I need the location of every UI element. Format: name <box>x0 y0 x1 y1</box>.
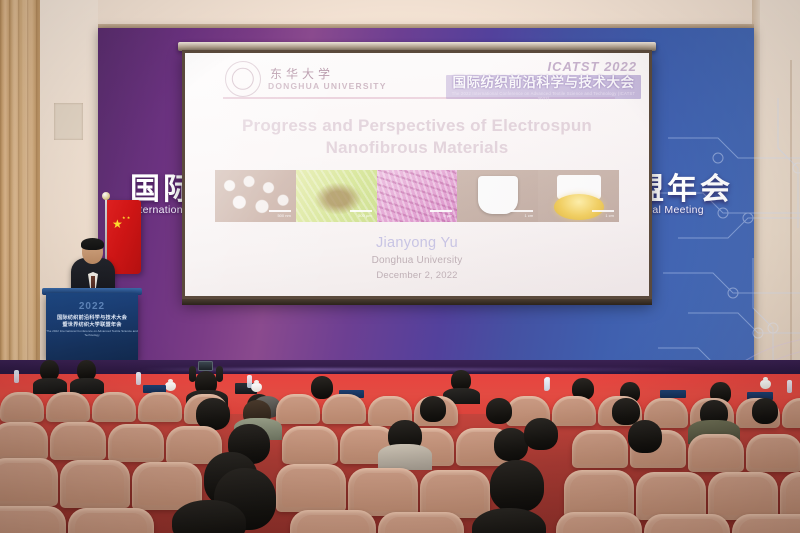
auditorium-seat <box>552 396 596 426</box>
scalebar-4: 1 cm <box>511 210 533 218</box>
teapot <box>760 380 771 389</box>
scalebar-2-label: 500 µm <box>358 213 371 218</box>
projection-screen: 东华大学 DONGHUA UNIVERSITY ICATST 2022 国际纺织… <box>185 53 649 296</box>
audience-head <box>490 460 544 512</box>
audience-head <box>420 396 446 422</box>
speaker-glasses-icon <box>84 248 101 253</box>
water-bottle <box>14 370 19 383</box>
slide-figure-row: 500 nm 500 µm 5 µm 1 cm 1 cm <box>215 170 619 222</box>
audience-head <box>311 376 333 399</box>
water-bottle <box>136 372 141 385</box>
podium-english-line: The 2022 International Conference on Adv… <box>46 329 138 337</box>
scalebar-1: 500 nm <box>269 210 291 218</box>
scalebar-3-label: 5 µm <box>443 213 452 218</box>
audience-head <box>752 398 778 424</box>
auditorium-seat <box>420 470 490 518</box>
auditorium-seat <box>0 506 66 533</box>
auditorium-seat <box>0 458 58 506</box>
slide-title: Progress and Perspectives of Electrospun… <box>185 115 649 159</box>
audience-head <box>524 418 558 450</box>
delegate-nameplate <box>660 390 686 398</box>
water-bottle <box>787 380 792 393</box>
donghua-university-logo-icon <box>225 61 261 97</box>
auditorium-seat <box>138 392 182 422</box>
auditorium-seat <box>746 434 800 472</box>
auditorium-seat <box>46 392 90 422</box>
audience-head <box>486 398 512 424</box>
raised-arm <box>216 366 223 382</box>
aerogel-cylinder-shape <box>478 176 518 214</box>
auditorium-seat <box>348 468 418 516</box>
auditorium-seat <box>556 512 642 533</box>
audience-shoulders <box>378 444 432 470</box>
slide-speaker-affiliation: Donghua University <box>185 255 649 266</box>
auditorium-seat <box>732 514 800 533</box>
auditorium-seat <box>780 472 800 520</box>
auditorium-seat <box>644 514 730 533</box>
audience-head <box>628 420 662 453</box>
auditorium-seat <box>322 394 366 424</box>
auditorium-seat <box>282 426 338 464</box>
auditorium-seat <box>68 508 154 533</box>
figure-histology-stained-section: 5 µm <box>377 170 458 222</box>
podium-sponsor-block <box>70 339 116 355</box>
auditorium-seat <box>50 422 106 460</box>
figure-sem-nanofiber-network: 500 nm <box>215 170 296 222</box>
raised-arm <box>189 366 196 382</box>
conference-chinese-banner: 国际纺织前沿科学与技术大会 <box>448 75 639 91</box>
auditorium-seat <box>0 392 44 422</box>
auditorium-seat <box>108 424 164 462</box>
slide-title-line2: Nanofibrous Materials <box>326 138 509 157</box>
auditorium-seat <box>688 434 744 472</box>
scalebar-2: 500 µm <box>350 210 372 218</box>
auditorium-seat <box>92 392 136 422</box>
teapot <box>251 383 262 392</box>
scalebar-1-label: 500 nm <box>277 213 290 218</box>
scalebar-5-label: 1 cm <box>605 213 614 218</box>
teapot <box>165 382 176 391</box>
auditorium-seat <box>636 472 706 520</box>
auditorium-seat <box>572 430 628 468</box>
figure-nanofiber-aerogel-cylinder: 1 cm <box>457 170 538 222</box>
flag-pole-finial <box>102 192 110 200</box>
audience-head <box>494 428 528 461</box>
auditorium-seat <box>276 394 320 424</box>
left-wood-panel-wall <box>0 0 40 372</box>
scalebar-4-label: 1 cm <box>525 213 534 218</box>
conference-acronym-year: ICATST 2022 <box>547 59 637 74</box>
figure-fluorescent-fiber-tissue: 500 µm <box>296 170 377 222</box>
scalebar-3: 5 µm <box>430 210 452 218</box>
screen-bottom-bar <box>182 299 652 305</box>
scalebar-5: 1 cm <box>592 210 614 218</box>
auditorium-seat <box>290 510 376 533</box>
auditorium-seat <box>0 422 48 460</box>
speaking-podium: 2022 国际纺织前沿科学与技术大会 暨世界纺织大学联盟年会 The 2022 … <box>46 293 138 360</box>
slide-speaker-name: Jianyong Yu <box>185 235 649 251</box>
university-english-name: DONGHUA UNIVERSITY <box>268 81 387 91</box>
water-bottle <box>247 375 252 388</box>
smartphone <box>198 361 213 371</box>
slide-title-line1: Progress and Perspectives of Electrospun <box>242 116 592 135</box>
auditorium-seat <box>60 460 130 508</box>
auditorium-seat <box>378 512 464 533</box>
auditorium-seat <box>564 470 634 518</box>
stage-skirt-highlight <box>140 368 700 371</box>
figure-aerogel-on-flower: 1 cm <box>538 170 619 222</box>
slide-date: December 2, 2022 <box>185 270 649 281</box>
conference-hall-photo: 国际纺 International C 盟年会 nnual Meeting 东华… <box>0 0 800 533</box>
water-bottle <box>545 377 550 390</box>
university-chinese-name: 东华大学 <box>270 65 334 82</box>
podium-year: 2022 <box>46 301 138 312</box>
conference-english-banner: The 2022 International Conference on Adv… <box>448 91 639 101</box>
podium-chinese-line2: 暨世界纺织大学联盟年会 <box>46 321 138 328</box>
wall-plaque <box>54 103 83 140</box>
podium-chinese-line1: 国际纺织前沿科学与技术大会 <box>46 314 138 321</box>
auditorium-seat <box>276 464 346 512</box>
auditorium-seat <box>708 472 778 520</box>
